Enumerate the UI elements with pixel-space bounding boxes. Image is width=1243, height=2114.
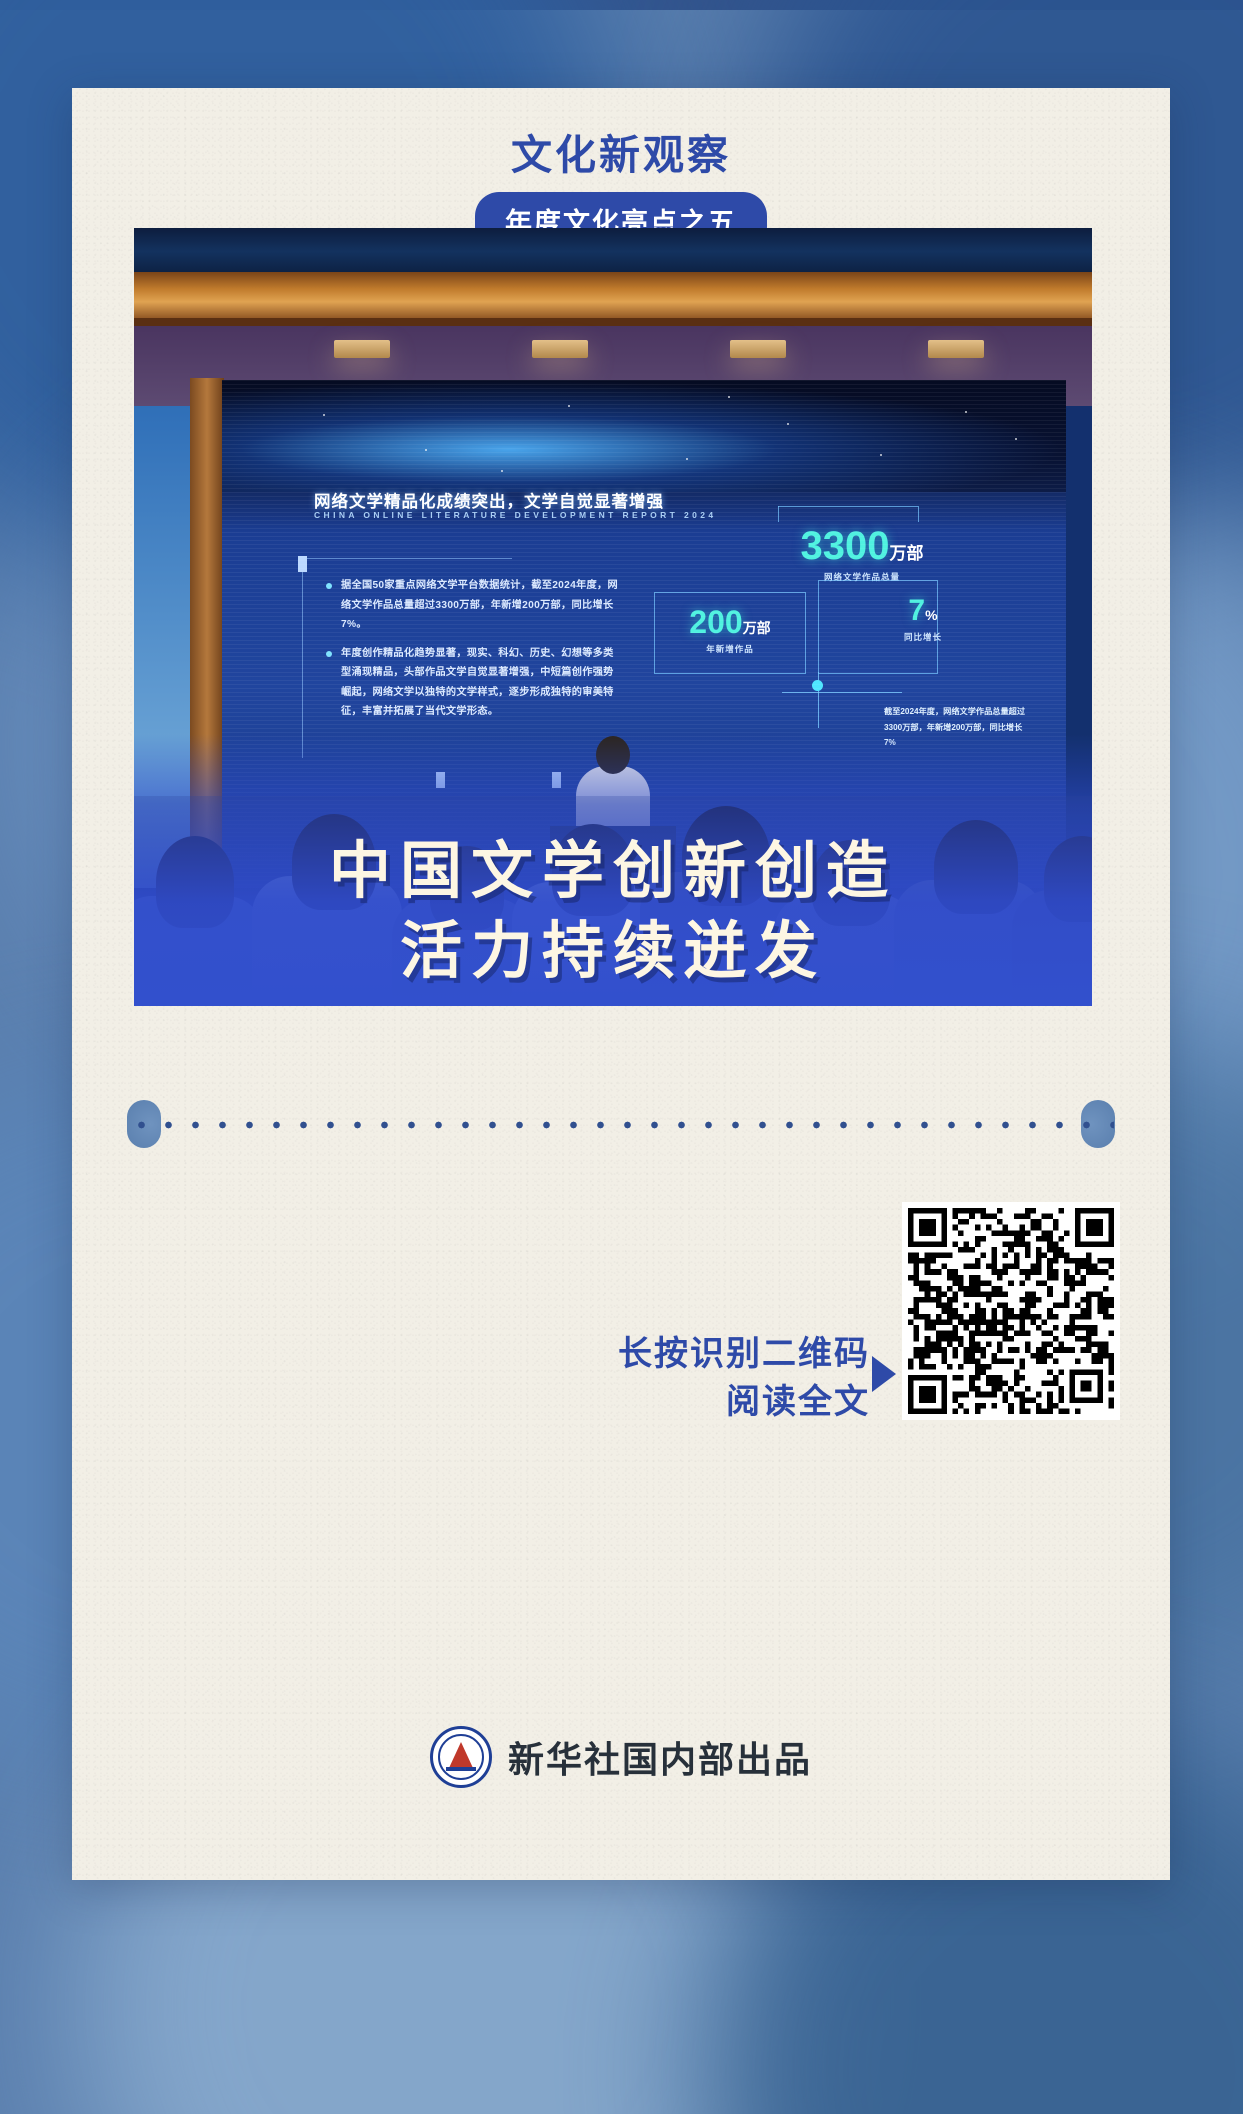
slide-title: 网络文学精品化成绩突出，文学自觉显著增强: [314, 488, 1026, 512]
xinhua-logo-icon: [430, 1726, 492, 1788]
qr-code[interactable]: [902, 1202, 1120, 1420]
footer: 新华社国内部出品: [72, 1726, 1170, 1788]
slide-stat-total: 3300万部 网络文学作品总量: [762, 526, 962, 583]
slide-bullet-list: 据全国50家重点网络文学平台数据统计，截至2024年度，网络文学作品总量超过33…: [326, 576, 618, 731]
stat-unit: 万部: [889, 544, 923, 563]
qr-prompt-line-1: 长按识别二维码: [618, 1330, 870, 1378]
logo-tower-shape: [449, 1742, 473, 1768]
headline-line-2: 活力持续迸发: [400, 911, 826, 990]
stat-value: 200: [689, 604, 742, 640]
qr-prompt: 长按识别二维码 阅读全文: [618, 1330, 870, 1427]
ceiling-lamp-icon: [928, 340, 984, 358]
slide-frame-line: [302, 558, 303, 758]
list-item: 年度创作精品化趋势显著，现实、科幻、历史、幻想等多类型涌现精品，头部作品文学自觉…: [326, 644, 618, 722]
slide-stat-rule: [778, 506, 779, 522]
stat-caption: 同比增长: [858, 631, 988, 643]
stat-value: 7: [908, 594, 925, 627]
slide-stat-frame: [818, 580, 938, 674]
poster-header: 文化新观察 年度文化亮点之五: [72, 88, 1170, 251]
slide-frame-cap: [298, 556, 307, 572]
hero-photo: 网络文学精品化成绩突出，文学自觉显著增强 CHINA ONLINE LITERA…: [134, 228, 1092, 1006]
logo-bar-shape: [446, 1767, 476, 1771]
slide-stat-new: 200万部 年新增作品: [654, 606, 806, 655]
slide-stat-growth: 7% 同比增长: [858, 596, 988, 643]
slide-note-rule: [782, 692, 902, 693]
qr-section: 长按识别二维码 阅读全文: [72, 1180, 1170, 1430]
stat-unit: %: [925, 607, 937, 623]
stat-value: 3300: [801, 524, 890, 568]
slide-frame-line: [302, 558, 512, 559]
stat-caption: 网络文学作品总量: [762, 571, 962, 583]
ceiling-lamp-icon: [334, 340, 390, 358]
photo-wood-beam: [134, 272, 1092, 320]
slide-stat-frame: [654, 592, 806, 674]
dotted-divider: [128, 1121, 1114, 1129]
arrow-right-icon: [872, 1356, 896, 1392]
poster-card: 文化新观察 年度文化亮点之五: [72, 88, 1170, 1880]
headline-line-1: 中国文学创新创造: [329, 831, 897, 910]
list-item: 据全国50家重点网络文学平台数据统计，截至2024年度，网络文学作品总量超过33…: [326, 576, 618, 635]
ceiling-lamp-icon: [730, 340, 786, 358]
slide-note-dot-icon: [812, 680, 823, 691]
stat-unit: 万部: [743, 620, 771, 636]
qr-prompt-line-2: 阅读全文: [618, 1378, 870, 1426]
photo-headline-overlay: 中国文学创新创造 活力持续迸发: [134, 734, 1092, 1006]
slide-nebula-graphic: [222, 380, 1066, 492]
ceiling-lamp-icon: [532, 340, 588, 358]
stat-caption: 年新增作品: [654, 643, 806, 655]
footer-text: 新华社国内部出品: [508, 1731, 812, 1783]
slide-stat-rule: [918, 506, 919, 522]
slide-note-rule: [818, 672, 819, 728]
slide-stat-rule: [778, 506, 918, 507]
slide-subtitle: CHINA ONLINE LITERATURE DEVELOPMENT REPO…: [314, 510, 1026, 520]
page-title: 文化新观察: [72, 132, 1170, 179]
